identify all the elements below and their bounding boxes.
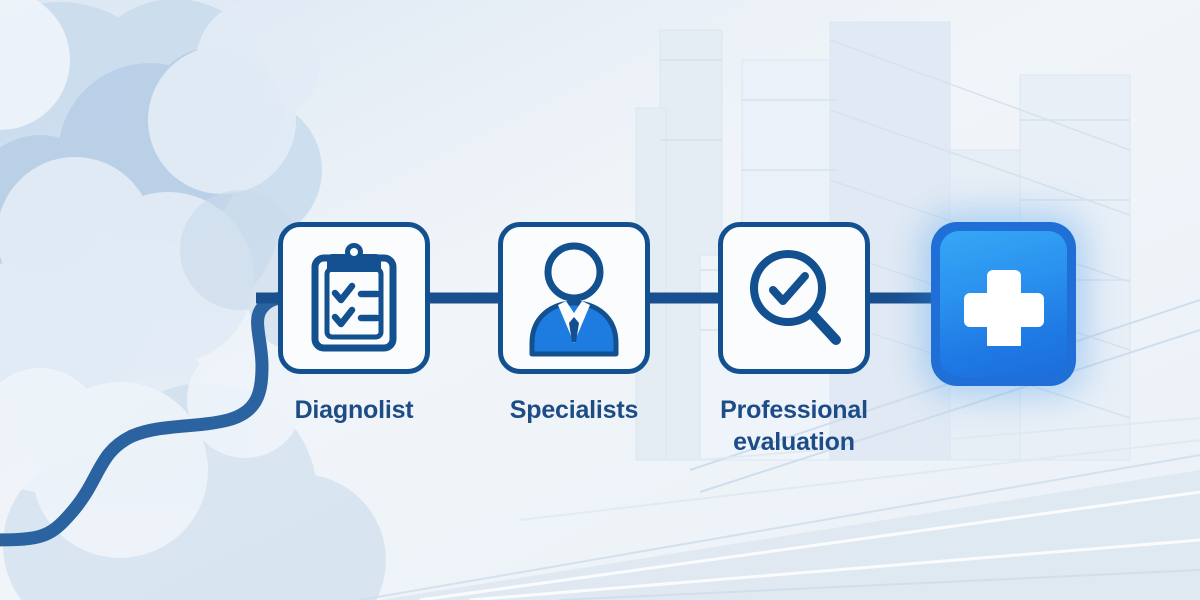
clipboard-check-rows [335,286,377,324]
step-card-professional-evaluation[interactable] [718,222,870,374]
tile-cross-wrap [931,222,1076,386]
magnifier-handle [812,314,836,340]
infographic-canvas: Diagnolist Specialists Professional eval… [0,0,1200,600]
step-label-diagnolist: Diagnolist [278,394,430,426]
person-professional-icon [518,239,630,357]
magnifier-checkmark [773,276,805,301]
medical-cross-icon [962,262,1046,346]
step-diagnolist[interactable]: Diagnolist [278,222,430,426]
person-head [548,246,600,298]
clipboard-checklist-icon [306,242,402,354]
magnifier-check-icon [742,244,846,352]
medical-cross-tile[interactable] [931,222,1076,386]
step-specialists[interactable]: Specialists [498,222,650,426]
connector-s-curve [0,298,300,540]
step-card-specialists[interactable] [498,222,650,374]
step-label-professional-evaluation: Professional evaluation [718,394,870,458]
step-professional-evaluation[interactable]: Professional evaluation [718,222,870,458]
step-label-specialists: Specialists [498,394,650,426]
step-card-diagnolist[interactable] [278,222,430,374]
